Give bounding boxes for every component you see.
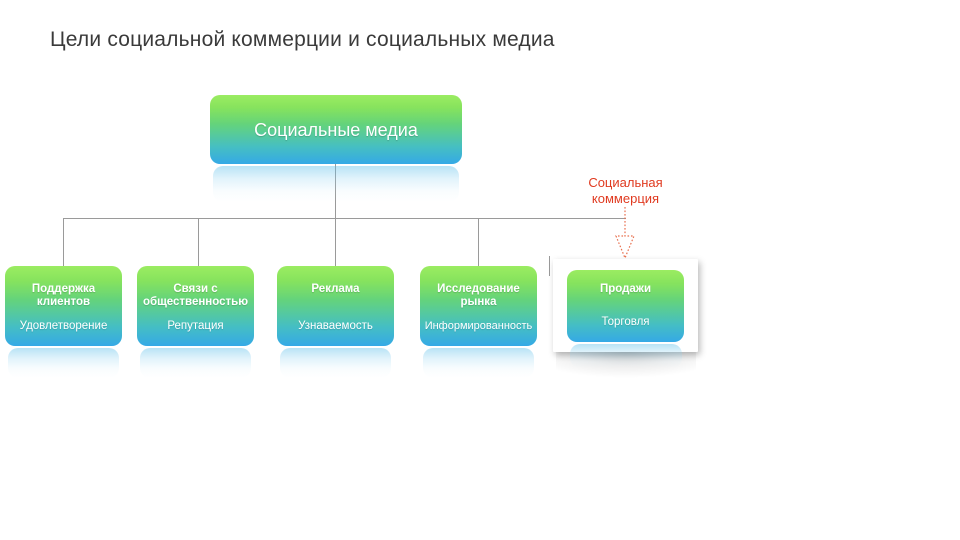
leaf-node-title-line1: Реклама <box>311 283 359 295</box>
annotation-label-social-commerce: Социальная коммерция <box>553 175 698 207</box>
leaf-node-title-line1: Исследование <box>437 283 520 295</box>
leaf-node-title-line1: Продажи <box>600 283 651 295</box>
leaf-node-reflection <box>8 348 119 378</box>
root-node-label: Социальные медиа <box>254 119 418 141</box>
root-node-reflection <box>213 166 459 202</box>
leaf-node-subtitle: Репутация <box>167 320 223 333</box>
leaf-node-customer-support[interactable]: Поддержка клиентов Удовлетворение <box>5 266 122 346</box>
leaf-node-reflection <box>423 348 534 378</box>
leaf-node-title-line1: Связи с <box>173 283 217 295</box>
leaf-node-title: Исследование рынка <box>437 283 520 309</box>
leaf-node-advertising[interactable]: Реклама Узнаваемость <box>277 266 394 346</box>
leaf-node-public-relations[interactable]: Связи с общественностью Репутация <box>137 266 254 346</box>
highlight-card-shadow <box>556 352 696 378</box>
leaf-node-reflection <box>140 348 251 378</box>
leaf-node-subtitle: Удовлетворение <box>20 320 108 333</box>
connector-drop-3 <box>335 218 336 268</box>
arrow-down-dotted-icon <box>608 206 642 260</box>
annotation-label-line2: коммерция <box>592 191 659 206</box>
leaf-node-sales[interactable]: Продажи Торговля <box>567 270 684 342</box>
annotation-label-line1: Социальная <box>588 175 662 190</box>
leaf-node-subtitle: Узнаваемость <box>298 320 373 333</box>
connector-drop-1 <box>63 218 64 268</box>
leaf-node-title-line2: клиентов <box>37 296 90 308</box>
leaf-node-subtitle: Информированность <box>425 320 533 333</box>
leaf-node-title: Связи с общественностью <box>143 283 248 309</box>
connector-drop-2 <box>198 218 199 268</box>
leaf-node-title-line1: Поддержка <box>32 283 95 295</box>
leaf-node-reflection <box>280 348 391 378</box>
leaf-node-subtitle: Торговля <box>601 316 649 329</box>
leaf-node-title: Продажи <box>600 283 651 296</box>
connector-drop-5 <box>549 256 550 276</box>
connector-root-stem <box>335 164 336 219</box>
leaf-node-title: Поддержка клиентов <box>32 283 95 309</box>
leaf-node-title: Реклама <box>311 283 359 296</box>
leaf-node-title-line2: общественностью <box>143 296 248 308</box>
leaf-node-market-research[interactable]: Исследование рынка Информированность <box>420 266 537 346</box>
slide-canvas: Цели социальной коммерции и социальных м… <box>0 0 960 540</box>
connector-drop-4 <box>478 218 479 268</box>
page-title: Цели социальной коммерции и социальных м… <box>50 26 555 54</box>
leaf-node-title-line2: рынка <box>461 296 497 308</box>
connector-horizontal-bus <box>63 218 626 219</box>
root-node-social-media[interactable]: Социальные медиа <box>210 95 462 164</box>
